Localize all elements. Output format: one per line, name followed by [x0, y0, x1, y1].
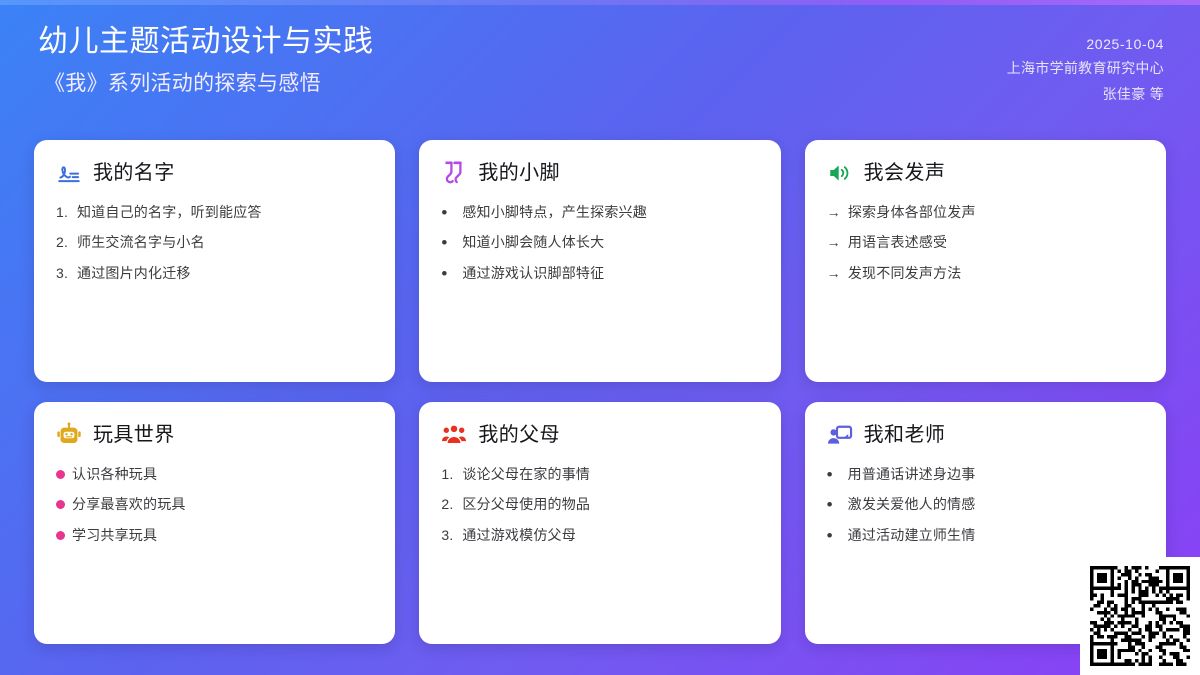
list-marker-bullet: •	[827, 465, 841, 485]
list-item-text: 通过游戏模仿父母	[462, 525, 576, 545]
card-list: 1.谈论父母在家的事情2.区分父母使用的物品3.通过游戏模仿父母	[441, 464, 758, 545]
card-list: 1.知道自己的名字，听到能应答2.师生交流名字与小名3.通过图片内化迁移	[56, 202, 373, 283]
list-item-text: 用语言表述感受	[848, 232, 947, 252]
topic-card[interactable]: 我的名字1.知道自己的名字，听到能应答2.师生交流名字与小名3.通过图片内化迁移	[34, 140, 395, 382]
list-item: •通过活动建立师生情	[827, 525, 1144, 545]
list-item: 1.谈论父母在家的事情	[441, 464, 758, 484]
signature-icon	[56, 160, 82, 186]
list-item-text: 发现不同发声方法	[848, 263, 962, 283]
slide-header: 幼儿主题活动设计与实践 《我》系列活动的探索与感悟 2025-10-04 上海市…	[0, 0, 1200, 130]
card-list: •用普通话讲述身边事•激发关爱他人的情感•通过活动建立师生情	[827, 464, 1144, 545]
page-subtitle: 《我》系列活动的探索与感悟	[38, 69, 374, 98]
list-marker-number: 2.	[56, 232, 70, 252]
list-item-text: 知道自己的名字，听到能应答	[77, 202, 262, 222]
list-marker-number: 3.	[441, 525, 455, 545]
card-list: →探索身体各部位发声→用语言表述感受→发现不同发声方法	[827, 202, 1144, 283]
list-item-text: 通过游戏认识脚部特征	[462, 263, 604, 283]
title-block: 幼儿主题活动设计与实践 《我》系列活动的探索与感悟	[38, 22, 374, 98]
list-item: →用语言表述感受	[827, 232, 1144, 252]
list-marker-number: 3.	[56, 263, 70, 283]
organization-label: 上海市学前教育研究中心	[1007, 58, 1164, 78]
card-header: 我和老师	[827, 422, 1144, 448]
list-item: →探索身体各部位发声	[827, 202, 1144, 222]
card-grid: 我的名字1.知道自己的名字，听到能应答2.师生交流名字与小名3.通过图片内化迁移…	[34, 140, 1166, 644]
list-item: •通过游戏认识脚部特征	[441, 263, 758, 283]
teacher-icon	[827, 422, 853, 448]
card-header: 我会发声	[827, 160, 1144, 186]
list-item: 2.师生交流名字与小名	[56, 232, 373, 252]
card-list: •感知小脚特点，产生探索兴趣•知道小脚会随人体长大•通过游戏认识脚部特征	[441, 202, 758, 283]
topic-card[interactable]: 玩具世界认识各种玩具分享最喜欢的玩具学习共享玩具	[34, 402, 395, 644]
list-item: •知道小脚会随人体长大	[441, 232, 758, 252]
list-item-text: 探索身体各部位发声	[848, 202, 976, 222]
list-item-text: 用普通话讲述身边事	[848, 464, 976, 484]
card-header: 我的名字	[56, 160, 373, 186]
list-marker-pink-dot	[56, 500, 65, 509]
list-item-text: 通过活动建立师生情	[848, 525, 976, 545]
qr-code[interactable]	[1080, 557, 1200, 675]
list-item: •感知小脚特点，产生探索兴趣	[441, 202, 758, 222]
list-marker-bullet: •	[441, 233, 455, 253]
list-item-text: 学习共享玩具	[72, 525, 157, 545]
list-item-text: 区分父母使用的物品	[462, 494, 590, 514]
card-title: 我和老师	[864, 423, 946, 447]
card-title: 我会发声	[864, 161, 946, 185]
list-item: •用普通话讲述身边事	[827, 464, 1144, 484]
list-item: →发现不同发声方法	[827, 263, 1144, 283]
list-marker-bullet: •	[441, 264, 455, 284]
list-item-text: 激发关爱他人的情感	[848, 494, 976, 514]
card-header: 我的父母	[441, 422, 758, 448]
list-item: •激发关爱他人的情感	[827, 494, 1144, 514]
list-item-text: 分享最喜欢的玩具	[72, 494, 186, 514]
list-marker-arrow: →	[827, 202, 841, 222]
list-item: 认识各种玩具	[56, 464, 373, 484]
list-marker-bullet: •	[827, 495, 841, 515]
card-title: 玩具世界	[93, 423, 175, 447]
card-list: 认识各种玩具分享最喜欢的玩具学习共享玩具	[56, 464, 373, 545]
card-title: 我的小脚	[478, 161, 560, 185]
list-marker-bullet: •	[441, 203, 455, 223]
list-item: 1.知道自己的名字，听到能应答	[56, 202, 373, 222]
list-item-text: 通过图片内化迁移	[77, 263, 191, 283]
topic-card[interactable]: 我会发声→探索身体各部位发声→用语言表述感受→发现不同发声方法	[805, 140, 1166, 382]
list-item: 分享最喜欢的玩具	[56, 494, 373, 514]
list-marker-pink-dot	[56, 531, 65, 540]
meta-block: 2025-10-04 上海市学前教育研究中心 张佳豪 等	[1007, 22, 1164, 104]
list-item: 3.通过图片内化迁移	[56, 263, 373, 283]
list-item-text: 谈论父母在家的事情	[462, 464, 590, 484]
topic-card[interactable]: 我的父母1.谈论父母在家的事情2.区分父母使用的物品3.通过游戏模仿父母	[419, 402, 780, 644]
socks-icon	[441, 160, 467, 186]
list-item-text: 知道小脚会随人体长大	[462, 232, 604, 252]
list-item: 2.区分父母使用的物品	[441, 494, 758, 514]
list-marker-pink-dot	[56, 470, 65, 479]
card-title: 我的名字	[93, 161, 175, 185]
list-item: 3.通过游戏模仿父母	[441, 525, 758, 545]
card-title: 我的父母	[478, 423, 560, 447]
card-header: 玩具世界	[56, 422, 373, 448]
author-label: 张佳豪 等	[1103, 84, 1164, 104]
list-marker-bullet: •	[827, 526, 841, 546]
list-marker-number: 2.	[441, 494, 455, 514]
list-marker-arrow: →	[827, 232, 841, 252]
list-item-text: 认识各种玩具	[72, 464, 157, 484]
topic-card[interactable]: 我的小脚•感知小脚特点，产生探索兴趣•知道小脚会随人体长大•通过游戏认识脚部特征	[419, 140, 780, 382]
list-item-text: 感知小脚特点，产生探索兴趣	[462, 202, 647, 222]
list-marker-number: 1.	[441, 464, 455, 484]
list-item: 学习共享玩具	[56, 525, 373, 545]
list-item-text: 师生交流名字与小名	[77, 232, 205, 252]
card-header: 我的小脚	[441, 160, 758, 186]
slide-root: 幼儿主题活动设计与实践 《我》系列活动的探索与感悟 2025-10-04 上海市…	[0, 0, 1200, 675]
date-label: 2025-10-04	[1086, 36, 1164, 52]
list-marker-number: 1.	[56, 202, 70, 222]
robot-icon	[56, 422, 82, 448]
page-title: 幼儿主题活动设计与实践	[38, 22, 374, 63]
list-marker-arrow: →	[827, 263, 841, 283]
family-icon	[441, 422, 467, 448]
speaker-icon	[827, 160, 853, 186]
